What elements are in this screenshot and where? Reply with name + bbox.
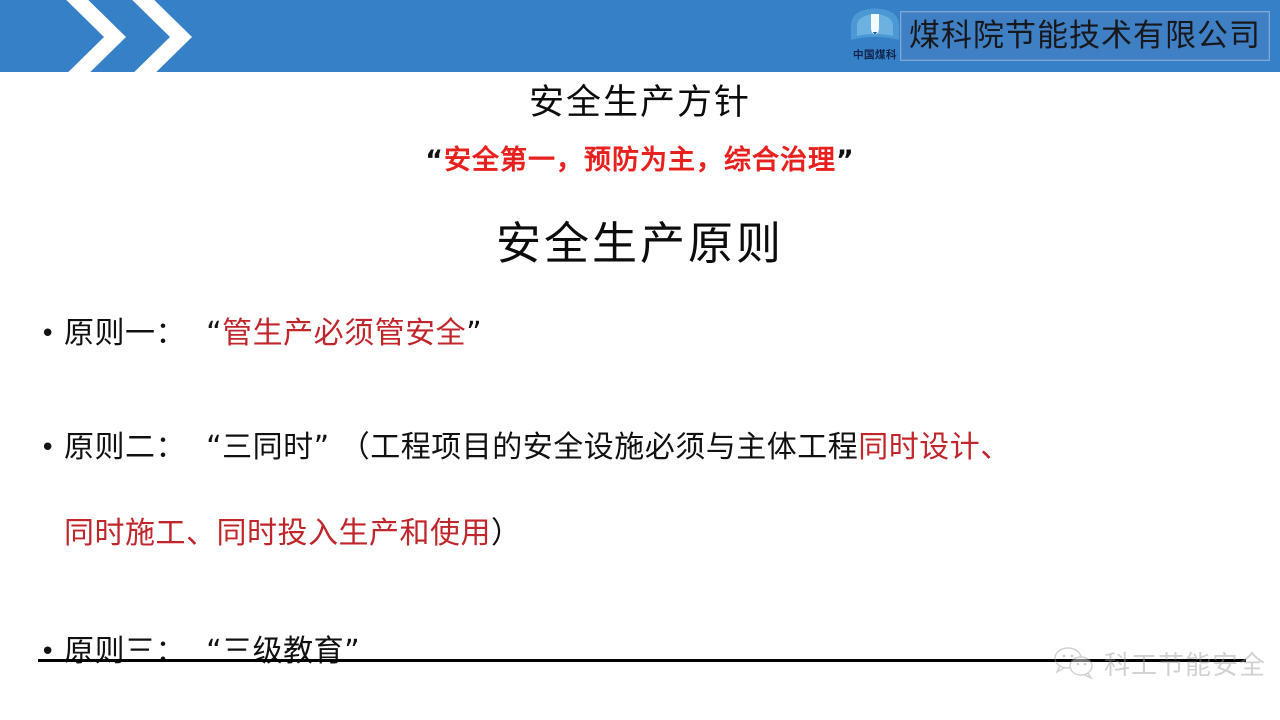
principle-list: • 原则一： “管生产必须管安全” • 原则二： “三同时” （工程项目的安全设… <box>40 312 1255 674</box>
paren-open: （ <box>340 430 371 465</box>
principle-label: 原则二： <box>64 430 186 465</box>
paren-close: ） <box>491 516 522 551</box>
double-chevron-right-icon <box>22 0 222 72</box>
coal-science-shield-icon <box>847 6 903 48</box>
list-item-text: 原则一： “管生产必须管安全” <box>40 312 1255 356</box>
bullet-marker: • <box>40 312 62 356</box>
principle-detail-red-cont: 同时施工、同时投入生产和使用 <box>64 516 491 551</box>
quote-close: ” <box>466 316 482 351</box>
principle-value: 管生产必须管安全 <box>222 316 466 351</box>
principle-value: 三同时 <box>222 430 314 465</box>
quote-close: ” <box>344 634 360 669</box>
quote-open: “ <box>206 634 222 669</box>
company-name-box: 煤科院节能技术有限公司 <box>900 11 1270 61</box>
policy-slogan: “安全第一，预防为主，综合治理” <box>0 144 1280 178</box>
principle-label: 原则一： <box>64 316 186 351</box>
principle-value: 三级教育 <box>222 634 344 669</box>
list-item-text: 同时施工、同时投入生产和使用） <box>40 512 1255 556</box>
bullet-marker: • <box>40 426 62 470</box>
watermark-text: 科工节能安全 <box>1104 651 1266 681</box>
spacer <box>40 556 1255 630</box>
bullet-marker: • <box>40 630 62 674</box>
slogan-close-quote: ” <box>836 145 855 176</box>
list-item-continuation: 同时施工、同时投入生产和使用） <box>40 512 1255 556</box>
list-item: • 原则一： “管生产必须管安全” <box>40 312 1255 356</box>
watermark: 科工节能安全 <box>1052 646 1266 685</box>
slogan-open-quote: “ <box>425 145 444 176</box>
slide-root: 中国煤科 煤科院节能技术有限公司 安全生产方针 “安全第一，预防为主，综合治理”… <box>0 0 1280 720</box>
list-item: • 原则二： “三同时” （工程项目的安全设施必须与主体工程同时设计、 <box>40 426 1255 470</box>
quote-open: “ <box>206 316 222 351</box>
list-item-text: 原则二： “三同时” （工程项目的安全设施必须与主体工程同时设计、 <box>40 426 1255 470</box>
principle-detail-black: 工程项目的安全设施必须与主体工程 <box>370 430 858 465</box>
header-band: 中国煤科 煤科院节能技术有限公司 <box>0 0 1280 72</box>
slogan-text: 安全第一，预防为主，综合治理 <box>444 145 836 176</box>
quote-close: ” <box>314 430 330 465</box>
principle-title: 安全生产原则 <box>0 215 1280 273</box>
principle-label: 原则三： <box>64 634 186 669</box>
spacer <box>40 356 1255 426</box>
policy-title: 安全生产方针 <box>0 82 1280 124</box>
company-name: 煤科院节能技术有限公司 <box>909 19 1261 53</box>
quote-open: “ <box>206 430 222 465</box>
spacer <box>40 470 1255 512</box>
principle-detail-red: 同时设计、 <box>858 430 1011 465</box>
wechat-bubble-icon <box>1052 646 1098 685</box>
